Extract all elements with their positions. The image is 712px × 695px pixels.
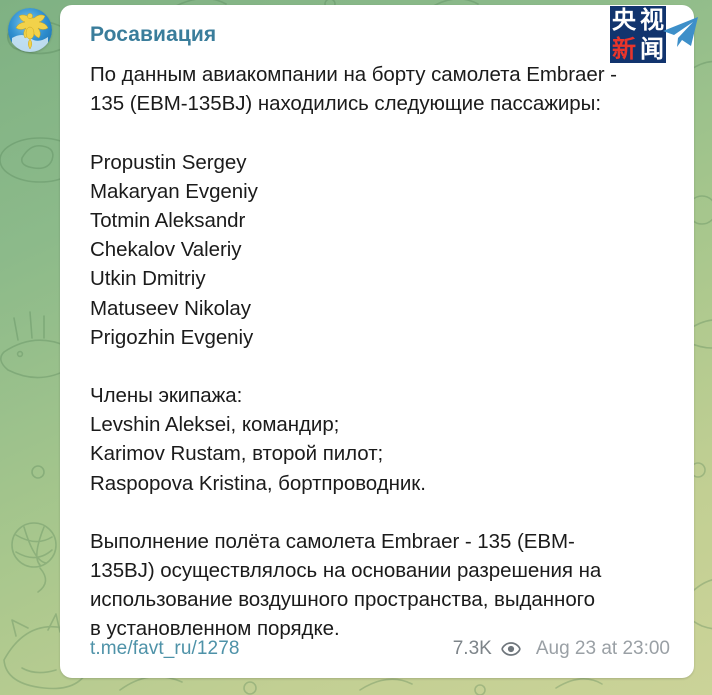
avatar[interactable] [8,8,52,52]
telegram-plane-icon [666,6,700,55]
crew-list: Члены экипажа: Levshin Aleksei, командир… [90,381,672,498]
message-footer: t.me/favt_ru/1278 7.3K Aug 23 at 23:00 [90,638,670,660]
text-line: 135BJ) осуществлялось на основании разре… [90,559,601,582]
footer-meta: 7.3K Aug 23 at 23:00 [453,638,670,660]
paragraph-authorization: Выполнение полёта самолета Embraer - 135… [90,527,672,644]
passenger-name: Matuseev Nikolay [90,297,251,320]
passenger-name: Prigozhin Evgeniy [90,326,253,349]
post-link[interactable]: t.me/favt_ru/1278 [90,638,240,660]
text-line: 135 (EBM-135BJ) находились следующие пас… [90,92,601,115]
cctv-char: 央 [610,6,638,35]
cctv-news-logo: 央 视 新 闻 [610,6,666,63]
paragraph-intro: По данным авиакомпании на борту самолета… [90,60,672,118]
post-date: Aug 23 at 23:00 [536,638,670,660]
text-line: Выполнение полёта самолета Embraer - 135… [90,530,575,553]
crew-member: Raspopova Kristina, бортпроводник. [90,472,426,495]
watermark: 央 视 新 闻 [610,6,700,63]
crew-member: Karimov Rustam, второй пилот; [90,442,383,465]
crew-member: Levshin Aleksei, командир; [90,413,339,436]
message-text: По данным авиакомпании на борту самолета… [90,60,672,643]
paragraph-spacer [90,498,672,527]
text-line: в установленном порядке. [90,617,340,640]
paragraph-spacer [90,119,672,148]
passenger-name: Chekalov Valeriy [90,238,242,261]
passenger-list: Propustin Sergey Makaryan Evgeniy Totmin… [90,148,672,352]
passenger-name: Utkin Dmitriy [90,267,206,290]
avatar-emblem-icon [8,8,52,52]
channel-name[interactable]: Росавиация [90,23,672,46]
passenger-name: Makaryan Evgeniy [90,180,258,203]
cctv-char: 新 [610,35,638,64]
passenger-name: Propustin Sergey [90,151,246,174]
text-line: По данным авиакомпании на борту самолета… [90,63,617,86]
passenger-name: Totmin Aleksandr [90,209,245,232]
text-line: использование воздушного пространства, в… [90,588,595,611]
eye-icon [501,642,521,656]
view-count: 7.3K [453,638,492,660]
paragraph-spacer [90,352,672,381]
message-bubble: Росавиация По данным авиакомпании на бор… [60,5,694,678]
crew-heading: Члены экипажа: [90,384,242,407]
